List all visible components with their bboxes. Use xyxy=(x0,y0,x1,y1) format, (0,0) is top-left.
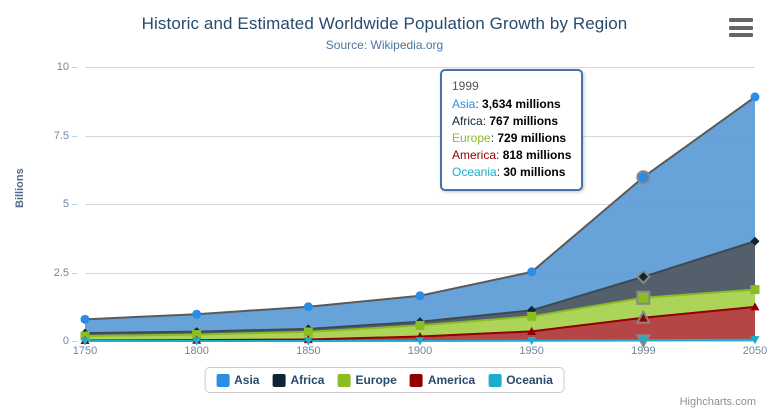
x-tick-label: 1900 xyxy=(408,345,432,357)
data-point-europe-2050[interactable] xyxy=(751,285,760,294)
tooltip-separator: : xyxy=(475,97,482,111)
x-tick-label: 2050 xyxy=(743,345,767,357)
tooltip-row-america: America: 818 millions xyxy=(452,147,571,164)
legend-label-america: America xyxy=(428,373,475,387)
legend[interactable]: AsiaAfricaEuropeAmericaOceania xyxy=(204,367,565,393)
tooltip-rows: Asia: 3,634 millionsAfrica: 767 millions… xyxy=(452,96,571,181)
data-point-asia-1800[interactable] xyxy=(192,310,201,319)
y-tick-mark xyxy=(72,204,77,205)
tooltip-series-name: Oceania xyxy=(452,165,497,179)
tooltip: 1999 Asia: 3,634 millionsAfrica: 767 mil… xyxy=(440,69,583,191)
menu-bar-1 xyxy=(729,18,753,22)
x-tick-label: 1800 xyxy=(184,345,208,357)
y-tick-label: 5 xyxy=(63,198,69,210)
tooltip-row-africa: Africa: 767 millions xyxy=(452,113,571,130)
highcharts-watermark[interactable]: Highcharts.com xyxy=(680,396,756,408)
data-point-europe-1950[interactable] xyxy=(527,312,536,321)
legend-swatch-africa xyxy=(272,374,285,387)
legend-label-oceania: Oceania xyxy=(506,373,553,387)
legend-swatch-oceania xyxy=(488,374,501,387)
tooltip-series-name: America xyxy=(452,148,496,162)
tooltip-series-value: 30 millions xyxy=(503,165,565,179)
data-point-asia-1750[interactable] xyxy=(81,315,90,324)
tooltip-series-name: Asia xyxy=(452,97,475,111)
y-tick-label: 10 xyxy=(57,61,69,73)
legend-item-oceania[interactable]: Oceania xyxy=(488,373,553,387)
tooltip-series-name: Europe xyxy=(452,131,491,145)
y-tick-mark xyxy=(72,341,77,342)
tooltip-row-oceania: Oceania: 30 millions xyxy=(452,164,571,181)
data-point-asia-1999[interactable] xyxy=(637,171,649,183)
y-tick-mark xyxy=(72,136,77,137)
data-point-asia-1900[interactable] xyxy=(416,291,425,300)
legend-label-africa: Africa xyxy=(290,373,324,387)
tooltip-series-value: 767 millions xyxy=(489,114,558,128)
data-point-europe-1900[interactable] xyxy=(416,321,425,330)
legend-label-asia: Asia xyxy=(234,373,259,387)
y-tick-mark xyxy=(72,67,77,68)
x-tick-label: 1750 xyxy=(73,345,97,357)
y-tick-label: 2.5 xyxy=(54,267,69,279)
x-tick-label: 1850 xyxy=(296,345,320,357)
data-point-asia-1850[interactable] xyxy=(304,302,313,311)
legend-swatch-asia xyxy=(216,374,229,387)
data-point-asia-2050[interactable] xyxy=(751,92,760,101)
legend-item-africa[interactable]: Africa xyxy=(272,373,324,387)
series-layer xyxy=(85,67,755,341)
data-point-europe-1999[interactable] xyxy=(637,292,649,304)
x-tick-label: 1950 xyxy=(519,345,543,357)
tooltip-separator: : xyxy=(496,148,503,162)
plot-area xyxy=(85,67,755,341)
chart-subtitle: Source: Wikipedia.org xyxy=(0,38,769,52)
legend-swatch-europe xyxy=(337,374,350,387)
y-tick-label: 0 xyxy=(63,335,69,347)
hamburger-menu-icon[interactable] xyxy=(729,18,753,37)
chart-title: Historic and Estimated Worldwide Populat… xyxy=(0,14,769,34)
legend-item-europe[interactable]: Europe xyxy=(337,373,396,387)
legend-swatch-america xyxy=(410,374,423,387)
data-point-asia-1950[interactable] xyxy=(527,267,536,276)
tooltip-row-europe: Europe: 729 millions xyxy=(452,130,571,147)
menu-bar-3 xyxy=(729,33,753,37)
tooltip-series-value: 729 millions xyxy=(497,131,566,145)
menu-bar-2 xyxy=(729,26,753,30)
tooltip-series-value: 818 millions xyxy=(503,148,572,162)
legend-label-europe: Europe xyxy=(355,373,396,387)
tooltip-series-name: Africa xyxy=(452,114,483,128)
y-tick-label: 7.5 xyxy=(54,130,69,142)
y-axis-title: Billions xyxy=(14,168,26,208)
chart-container: Historic and Estimated Worldwide Populat… xyxy=(0,0,769,416)
y-tick-mark xyxy=(72,273,77,274)
tooltip-series-value: 3,634 millions xyxy=(482,97,561,111)
tooltip-header: 1999 xyxy=(452,78,571,96)
legend-item-asia[interactable]: Asia xyxy=(216,373,259,387)
legend-item-america[interactable]: America xyxy=(410,373,475,387)
tooltip-row-asia: Asia: 3,634 millions xyxy=(452,96,571,113)
